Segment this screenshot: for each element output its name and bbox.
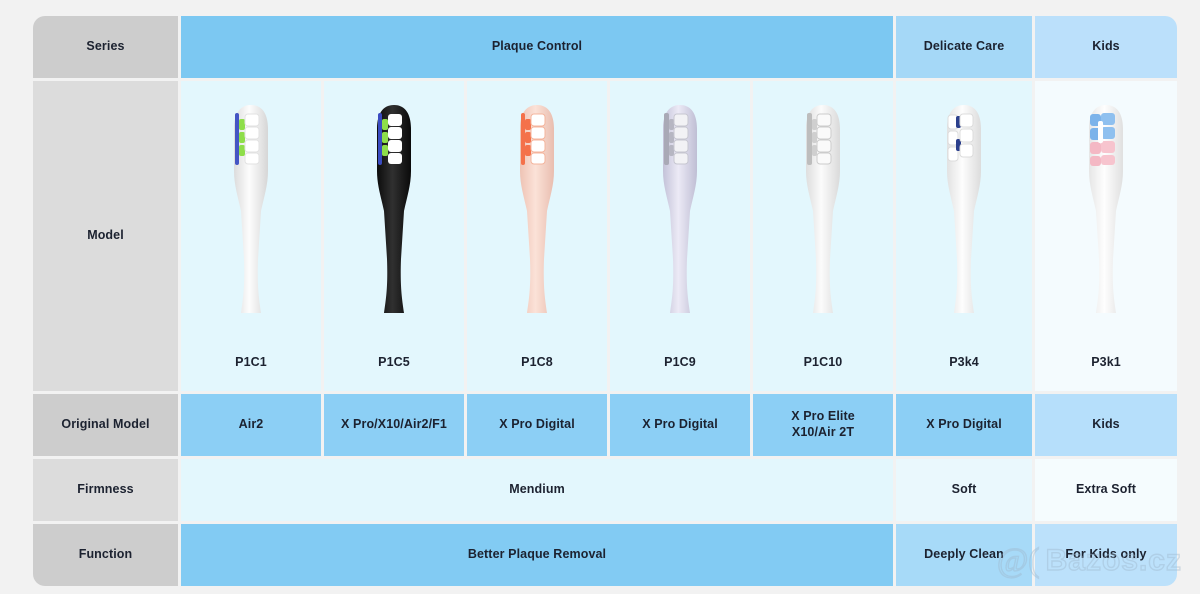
row-label-original-model: Original Model <box>33 394 178 456</box>
original-model-p3k4: X Pro Digital <box>896 394 1032 456</box>
model-cell-p1c8: P1C8 <box>467 81 607 391</box>
model-cell-p1c1: P1C1 <box>181 81 321 391</box>
firmness-plaque-control: Mendium <box>181 459 893 521</box>
row-label-series: Series <box>33 16 178 78</box>
function-plaque-control: Better Plaque Removal <box>181 524 893 586</box>
original-model-p1c9: X Pro Digital <box>610 394 750 456</box>
row-label-function: Function <box>33 524 178 586</box>
brush-image-p1c5 <box>362 99 426 327</box>
series-header-delicate-care: Delicate Care <box>896 16 1032 78</box>
brush-image-p1c1 <box>219 99 283 327</box>
row-label-model: Model <box>33 81 178 391</box>
original-model-p1c8: X Pro Digital <box>467 394 607 456</box>
model-name-p1c1: P1C1 <box>235 355 267 371</box>
model-name-p3k1: P3k1 <box>1091 355 1121 371</box>
brush-image-p3k1 <box>1074 99 1138 327</box>
brush-image-p1c8 <box>505 99 569 327</box>
model-cell-p1c9: P1C9 <box>610 81 750 391</box>
model-name-p1c9: P1C9 <box>664 355 696 371</box>
series-header-plaque-control: Plaque Control <box>181 16 893 78</box>
model-cell-p3k1: P3k1 <box>1035 81 1177 391</box>
firmness-kids: Extra Soft <box>1035 459 1177 521</box>
model-name-p1c8: P1C8 <box>521 355 553 371</box>
model-name-p1c5: P1C5 <box>378 355 410 371</box>
firmness-delicate-care: Soft <box>896 459 1032 521</box>
original-model-p1c1: Air2 <box>181 394 321 456</box>
function-kids: For Kids only <box>1035 524 1177 586</box>
model-name-p3k4: P3k4 <box>949 355 979 371</box>
model-name-p1c10: P1C10 <box>804 355 843 371</box>
model-cell-p1c10: P1C10 <box>753 81 893 391</box>
original-model-p1c10: X Pro Elite X10/Air 2T <box>753 394 893 456</box>
comparison-table-page: Series Plaque Control Delicate Care Kids… <box>0 0 1200 594</box>
original-model-p1c5: X Pro/X10/Air2/F1 <box>324 394 464 456</box>
original-model-p3k1: Kids <box>1035 394 1177 456</box>
series-header-kids: Kids <box>1035 16 1177 78</box>
toothbrush-head-comparison-table: Series Plaque Control Delicate Care Kids… <box>33 16 1167 577</box>
brush-image-p1c10 <box>791 99 855 327</box>
row-label-firmness: Firmness <box>33 459 178 521</box>
model-cell-p3k4: P3k4 <box>896 81 1032 391</box>
brush-image-p3k4 <box>932 99 996 327</box>
model-cell-p1c5: P1C5 <box>324 81 464 391</box>
function-delicate-care: Deeply Clean <box>896 524 1032 586</box>
brush-image-p1c9 <box>648 99 712 327</box>
